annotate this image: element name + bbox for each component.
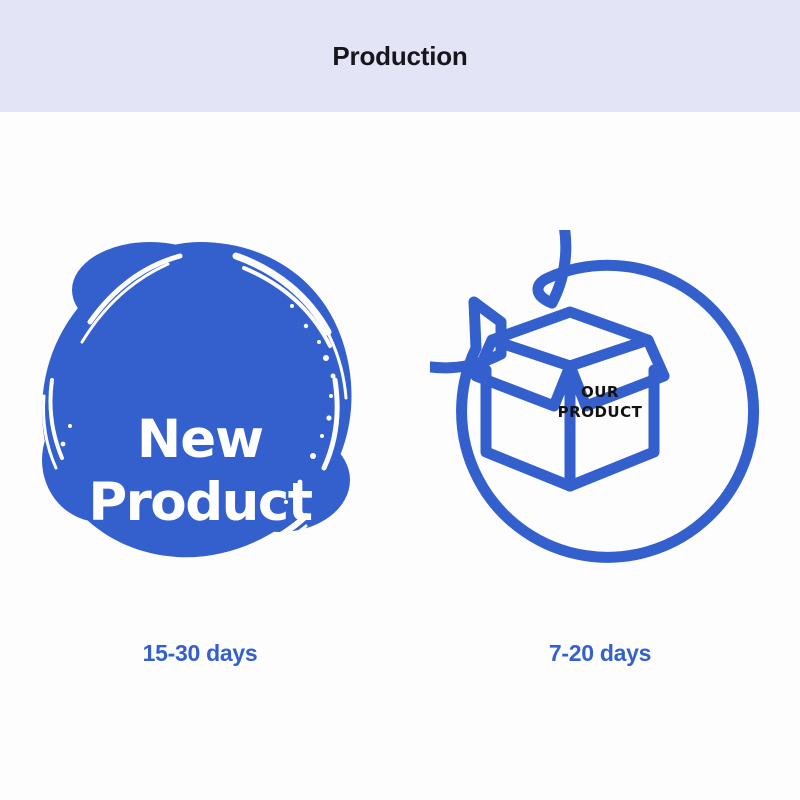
page-header: Production — [0, 0, 800, 112]
new-product-badge: New Product — [30, 230, 370, 570]
column-new-product: New Product 15-30 days — [0, 112, 400, 800]
duration-label-our-product: 7-20 days — [400, 640, 800, 667]
brush-circle-icon — [30, 230, 370, 570]
open-box-shape — [476, 312, 664, 486]
our-product-icon-wrap: OUR PRODUCT — [430, 230, 770, 570]
page-title: Production — [332, 41, 467, 72]
comparison-stage: New Product 15-30 days — [0, 112, 800, 800]
duration-label-new-product: 15-30 days — [0, 640, 400, 667]
circular-arrow-tail-cap — [538, 278, 552, 303]
circular-arrow-outer-arc — [462, 265, 754, 557]
column-our-product: OUR PRODUCT 7-20 days — [400, 112, 800, 800]
box-refresh-icon — [430, 230, 770, 570]
